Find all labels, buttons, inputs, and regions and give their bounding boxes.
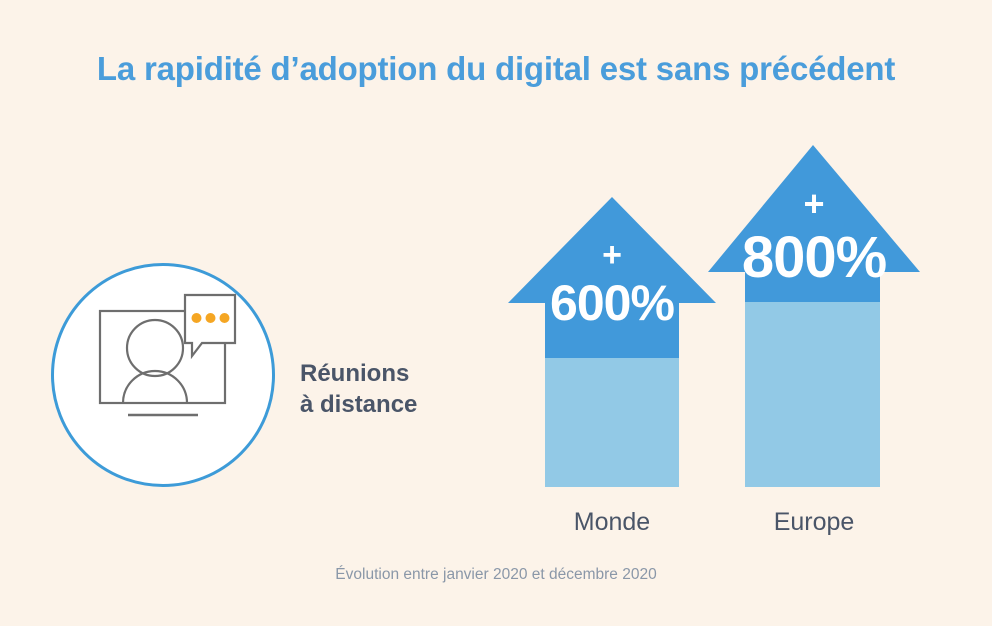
bar-value-number-monde: 600% [508, 278, 716, 328]
bar-value-number-europe: 800% [708, 229, 920, 287]
bar-shaft-europe [745, 302, 880, 487]
bar-value-plus-monde: + [508, 238, 716, 272]
chart-footnote: Évolution entre janvier 2020 et décembre… [0, 566, 992, 584]
bar-value-monde: + 600% [508, 238, 716, 328]
bar-label-europe: Europe [708, 508, 920, 537]
infographic-canvas: La rapidité d’adoption du digital est sa… [0, 0, 992, 626]
bar-value-plus-europe: + [708, 186, 920, 222]
bar-shaft-monde [545, 358, 679, 487]
bar-value-europe: + 800% [708, 186, 920, 287]
bar-label-monde: Monde [508, 508, 716, 537]
